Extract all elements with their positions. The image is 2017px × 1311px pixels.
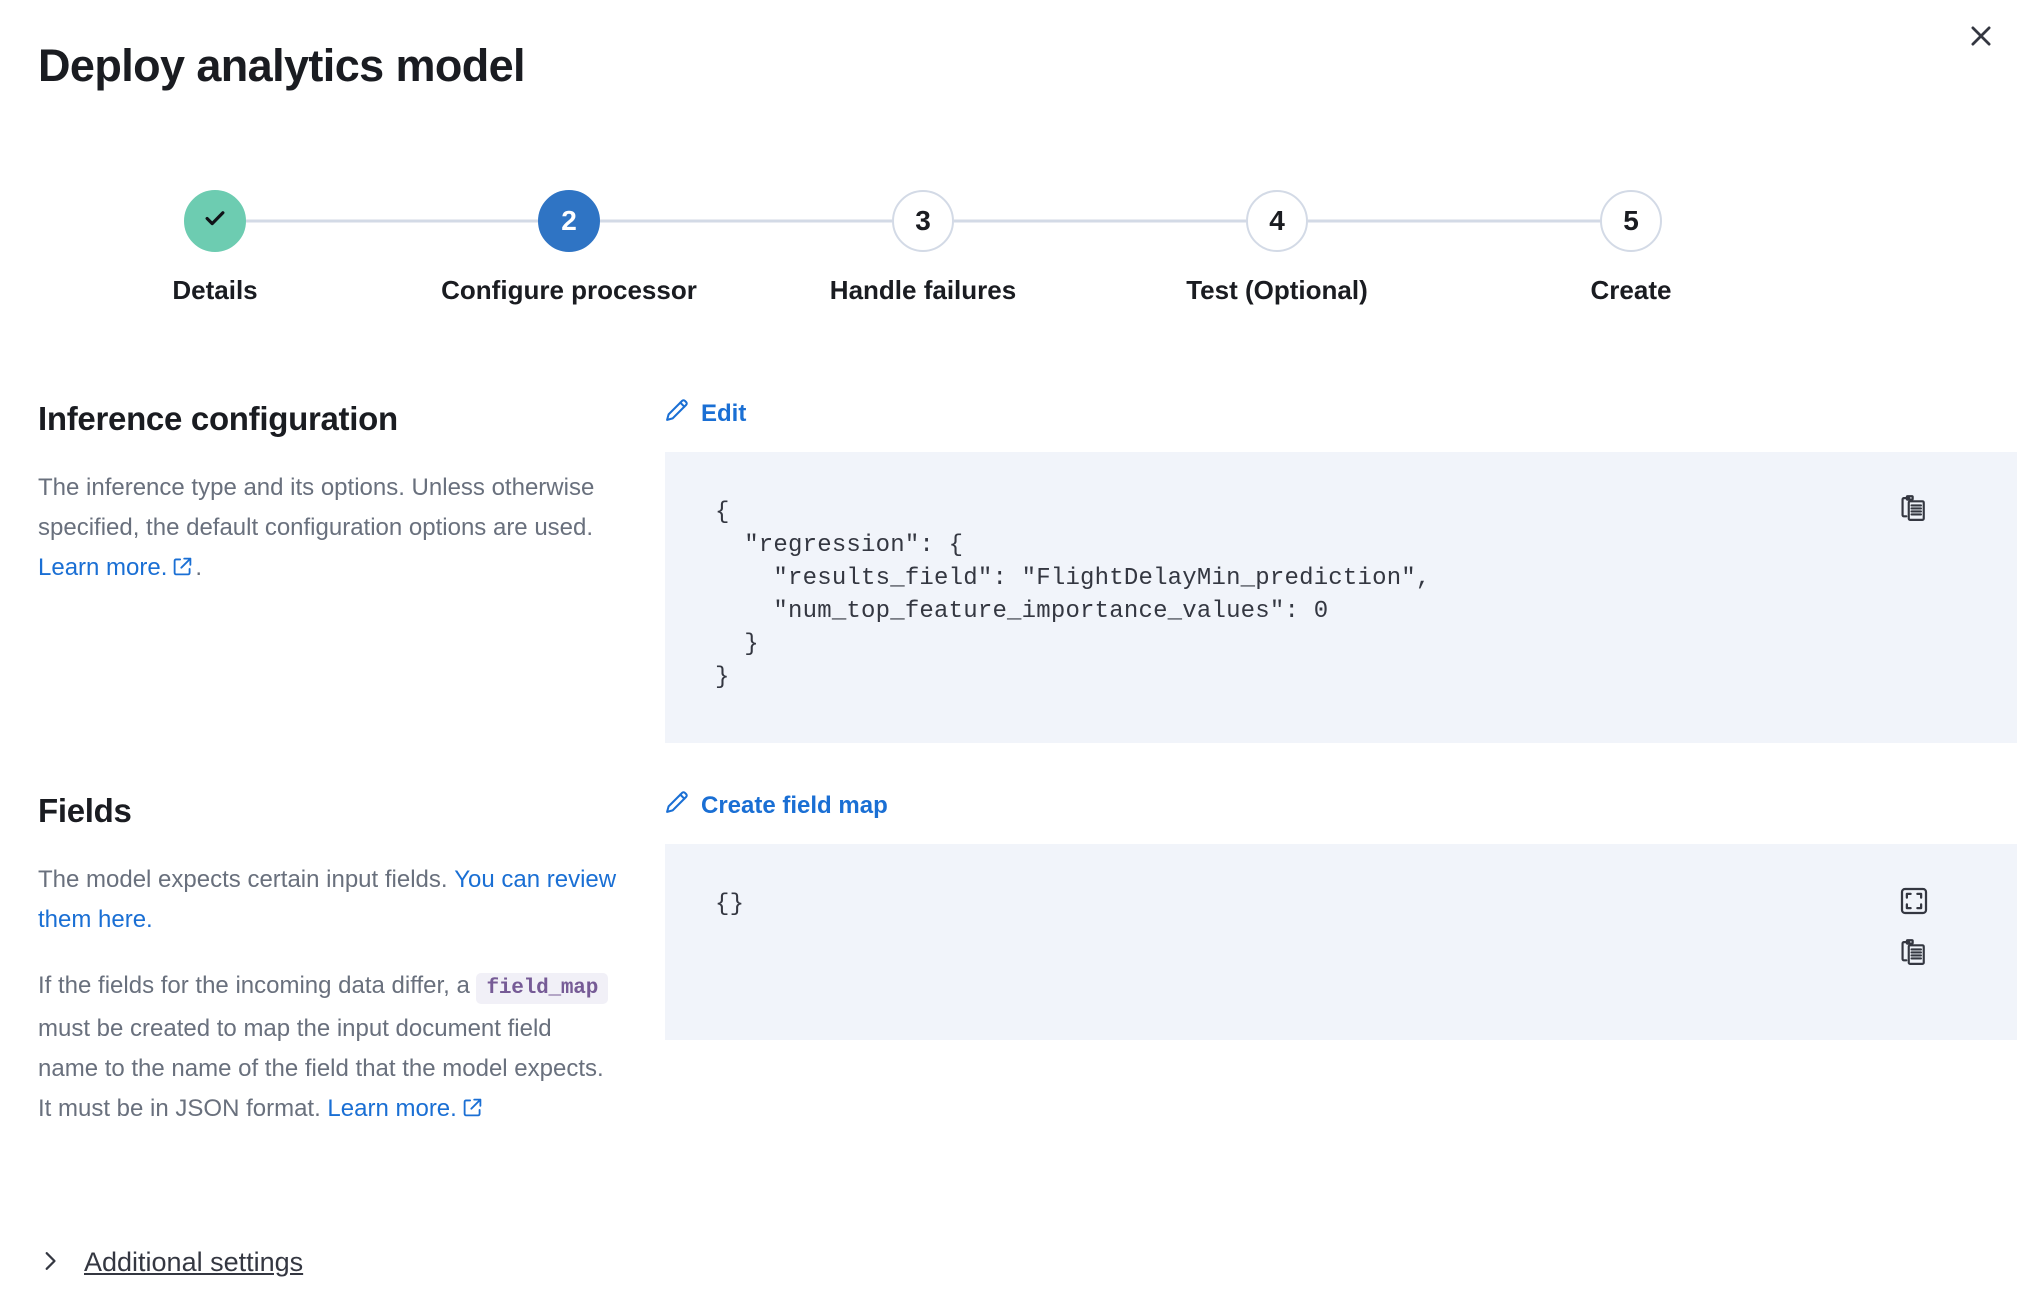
clipboard-icon <box>1899 494 1929 524</box>
check-icon <box>201 204 229 239</box>
inference-config-code-block: { "regression": { "results_field": "Flig… <box>665 452 2017 743</box>
copy-inference-config-button[interactable] <box>1897 492 1931 526</box>
step-marker-4: 4 <box>1246 190 1308 252</box>
step-connector-left <box>746 220 892 223</box>
step-connector-right <box>954 220 1100 223</box>
step-connector-left <box>1100 220 1246 223</box>
copy-field-map-button[interactable] <box>1897 936 1931 970</box>
wizard-stepper: Details 2 Configure processor 3 Handle f… <box>38 190 1808 306</box>
inference-configuration-description: The inference type and its options. Unle… <box>38 468 618 590</box>
inference-config-code: { "regression": { "results_field": "Flig… <box>715 496 2017 694</box>
pencil-icon <box>665 398 689 430</box>
field-map-code-tools <box>1897 884 1931 970</box>
step-marker-3: 3 <box>892 190 954 252</box>
step-circle-row: 4 <box>1100 190 1454 252</box>
clipboard-icon <box>1899 938 1929 968</box>
step-connector-left <box>1454 220 1600 223</box>
inference-learn-more-label: Learn more. <box>38 554 167 581</box>
step-circle-row: 3 <box>746 190 1100 252</box>
step-connector-right <box>600 220 746 223</box>
step-marker-5: 5 <box>1600 190 1662 252</box>
step-create[interactable]: 5 Create <box>1454 190 1808 306</box>
external-link-icon <box>462 1091 483 1131</box>
external-link-icon <box>172 550 193 590</box>
step-circle-row <box>38 190 392 252</box>
inference-learn-more-link[interactable]: Learn more. <box>38 554 167 581</box>
step-label-test-optional: Test (Optional) <box>1186 274 1368 306</box>
fields-editor-column: Create field map {} <box>665 790 2017 1040</box>
fields-description-column: Fields The model expects certain input f… <box>38 790 618 1131</box>
additional-settings-label: Additional settings <box>84 1245 303 1279</box>
fields-description-1-text: The model expects certain input fields. <box>38 866 454 893</box>
inference-code-tools <box>1897 492 1931 526</box>
expand-icon <box>1899 886 1929 916</box>
fields-description-2: If the fields for the incoming data diff… <box>38 966 618 1131</box>
additional-settings-accordion[interactable]: Additional settings <box>38 1245 303 1279</box>
expand-field-map-button[interactable] <box>1897 884 1931 918</box>
close-icon <box>1968 23 1994 49</box>
field-map-code: {} <box>715 888 2017 921</box>
step-label-details: Details <box>172 274 257 306</box>
pencil-icon <box>665 790 689 822</box>
step-details[interactable]: Details <box>38 190 392 306</box>
step-label-configure-processor: Configure processor <box>441 274 697 306</box>
field-map-code-block: {} <box>665 844 2017 1040</box>
fields-description-2-pre: If the fields for the incoming data diff… <box>38 972 476 999</box>
step-connector-right <box>1308 220 1454 223</box>
page-title: Deploy analytics model <box>38 38 525 94</box>
step-label-handle-failures: Handle failures <box>830 274 1016 306</box>
inference-configuration-description-column: Inference configuration The inference ty… <box>38 398 618 590</box>
fields-learn-more-link[interactable]: Learn more. <box>327 1095 456 1122</box>
step-connector-left <box>392 220 538 223</box>
inference-description-text: The inference type and its options. Unle… <box>38 474 594 541</box>
inference-description-tail: . <box>195 554 202 581</box>
close-button[interactable] <box>1959 14 2003 58</box>
step-handle-failures[interactable]: 3 Handle failures <box>746 190 1100 306</box>
inference-configuration-editor-column: Edit { "regression": { "results_field": … <box>665 398 2017 743</box>
edit-inference-config-label: Edit <box>701 399 746 429</box>
create-field-map-button[interactable]: Create field map <box>665 790 888 822</box>
step-label-create: Create <box>1591 274 1672 306</box>
step-circle-row: 5 <box>1454 190 1808 252</box>
fields-learn-more-label: Learn more. <box>327 1095 456 1122</box>
inference-configuration-title: Inference configuration <box>38 398 618 440</box>
edit-inference-config-button[interactable]: Edit <box>665 398 746 430</box>
create-field-map-label: Create field map <box>701 791 888 821</box>
chevron-right-icon <box>38 1249 62 1276</box>
step-connector-right <box>246 220 392 223</box>
fields-description-1: The model expects certain input fields. … <box>38 860 618 940</box>
step-marker-current: 2 <box>538 190 600 252</box>
fields-title: Fields <box>38 790 618 832</box>
field-map-code-token: field_map <box>476 973 608 1004</box>
step-circle-row: 2 <box>392 190 746 252</box>
step-configure-processor[interactable]: 2 Configure processor <box>392 190 746 306</box>
fields-description-2-mid: must be created to map the input documen… <box>38 1015 604 1122</box>
step-marker-complete <box>184 190 246 252</box>
step-test-optional[interactable]: 4 Test (Optional) <box>1100 190 1454 306</box>
